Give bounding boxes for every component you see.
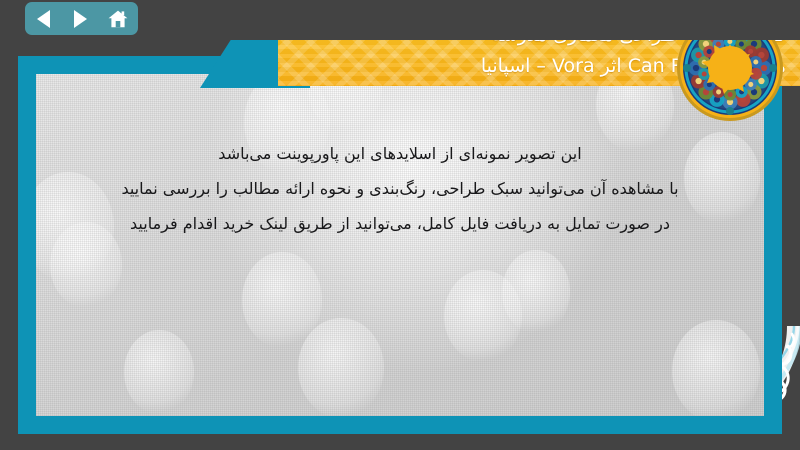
navigation-bar <box>0 0 800 40</box>
bokeh-circle <box>242 252 322 348</box>
halftone-texture-overlay <box>36 74 764 416</box>
bokeh-circle <box>124 330 194 414</box>
bokeh-circle <box>502 250 570 334</box>
body-line-3: در صورت تمایل به دریافت فایل کامل، می‌تو… <box>54 206 746 241</box>
home-button[interactable] <box>99 2 136 35</box>
triangle-right-icon <box>74 10 87 28</box>
body-line-1: این تصویر نمونه‌ای از اسلایدهای این پاور… <box>54 136 746 171</box>
triangle-left-icon <box>37 10 50 28</box>
bokeh-circle <box>298 318 384 416</box>
back-button[interactable] <box>25 2 62 35</box>
slide-content-panel: این تصویر نمونه‌ای از اسلایدهای این پاور… <box>36 74 764 416</box>
home-icon <box>107 9 129 29</box>
body-line-2: با مشاهده آن می‌توانید سبک طراحی، رنگ‌بن… <box>54 171 746 206</box>
bokeh-circle <box>444 270 522 362</box>
navigation-button-group <box>25 2 138 35</box>
slide-viewer: کامل بررسی طراحی معماری مدرسه موقت؛ Can … <box>0 0 800 450</box>
forward-button[interactable] <box>62 2 99 35</box>
bokeh-circle <box>672 320 760 416</box>
slide-body-text: این تصویر نمونه‌ای از اسلایدهای این پاور… <box>36 136 764 241</box>
